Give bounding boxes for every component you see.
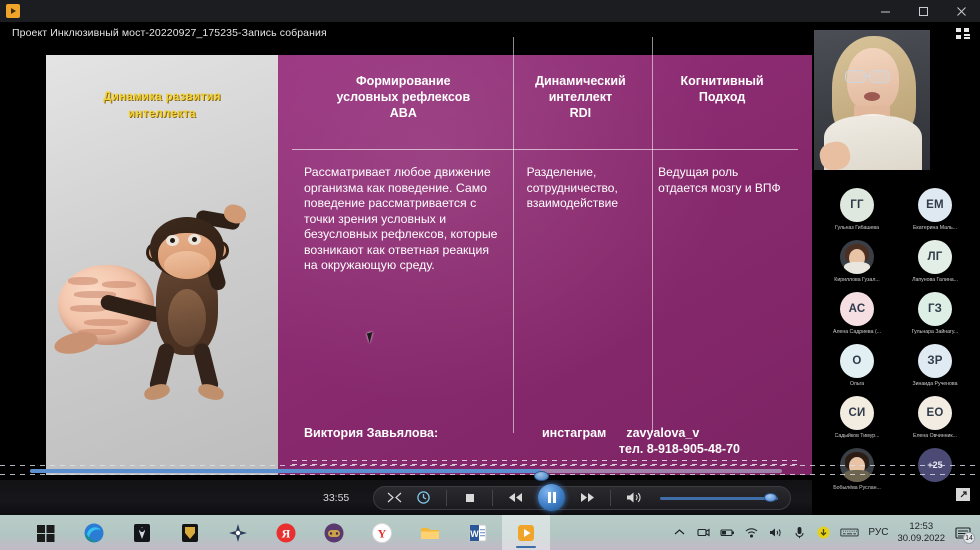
participant-name: Ольга <box>850 381 864 387</box>
rewind-icon[interactable] <box>507 489 524 506</box>
slide-column-3: Когнитивный Подход Ведущая роль отдается… <box>646 73 798 475</box>
stop-icon[interactable] <box>461 489 478 506</box>
slide-content-panel: Формирование условных рефлексов ABA Расс… <box>278 55 812 475</box>
yandex-icon[interactable]: Y <box>358 515 406 550</box>
avatar: ЛГ <box>918 240 952 274</box>
battery-icon[interactable] <box>720 525 735 540</box>
speaker-icon[interactable] <box>768 525 783 540</box>
avatar: О <box>840 344 874 378</box>
participant-tile[interactable]: ЕМ Екатерина Маль... <box>896 188 974 240</box>
participant-tile[interactable]: АС Алена Садриева (... <box>818 292 896 344</box>
presentation-slide: Динамика развития интеллекта <box>46 55 812 475</box>
svg-text:Y: Y <box>378 526 387 540</box>
slide-column-3-header: Когнитивный Подход <box>658 73 786 149</box>
participants-row: АС Алена Садриева (... ГЗ Гульнара Зайна… <box>818 292 974 344</box>
seek-progress-fill <box>30 469 541 473</box>
participant-name: Екатерина Маль... <box>913 225 957 231</box>
active-speaker-video[interactable] <box>814 30 930 170</box>
keyboard-icon[interactable] <box>840 525 859 540</box>
speaker-mouth <box>864 92 880 101</box>
system-tray: РУС 12:53 30.09.2022 14 <box>672 521 980 544</box>
slide-column-2: Динамический интеллект RDI Разделение, с… <box>515 73 647 475</box>
camera-icon[interactable] <box>696 525 711 540</box>
avatar: ГГ <box>840 188 874 222</box>
column-2-header-line3: RDI <box>527 105 635 121</box>
microphone-icon[interactable] <box>792 525 807 540</box>
clock-date: 30.09.2022 <box>897 533 945 545</box>
participant-tile[interactable]: Кириллова Гузал... <box>818 240 896 292</box>
slide-column-1-body: Рассматривает любое движение организма к… <box>304 165 503 274</box>
volume-icon[interactable] <box>625 489 642 506</box>
participant-tile[interactable]: ЛГ Лапунова Галина... <box>896 240 974 292</box>
avatar: ЗР <box>918 344 952 378</box>
wifi-icon[interactable] <box>744 525 759 540</box>
meeting-participants-panel: ГГ Гульназ Гибашева ЕМ Екатерина Маль...… <box>812 22 980 515</box>
slide-title-line1: Динамика развития <box>46 89 278 106</box>
avatar: ЕМ <box>918 188 952 222</box>
volume-handle[interactable] <box>764 493 777 502</box>
participant-tile[interactable]: ГЗ Гульнара Зайнагу... <box>896 292 974 344</box>
seek-bar[interactable] <box>0 462 812 480</box>
world-of-tanks-icon[interactable] <box>166 515 214 550</box>
games-icon[interactable] <box>310 515 358 550</box>
chevron-up-icon[interactable] <box>672 525 687 540</box>
notification-count: 14 <box>963 532 975 544</box>
participant-name: Алена Садриева (... <box>833 329 881 335</box>
slide-columns: Формирование условных рефлексов ABA Расс… <box>292 73 798 475</box>
file-explorer-icon[interactable] <box>406 515 454 550</box>
presenter-name: Виктория Завьялова: <box>292 426 524 440</box>
seek-handle[interactable] <box>534 471 549 481</box>
participant-name: Бобылёва Руслан... <box>833 485 881 491</box>
media-player-window: Проект Инклюзивный мост-20220927_175235-… <box>0 0 980 550</box>
windows-taskbar: Я Y <box>0 515 980 550</box>
svg-text:W: W <box>470 529 479 539</box>
participant-name: Гульназ Гибашева <box>835 225 879 231</box>
video-stage[interactable]: Динамика развития интеллекта <box>0 44 812 515</box>
monkey-belly <box>168 289 206 347</box>
speaker-glasses-bridge <box>866 75 870 77</box>
column-1-header-line1: Формирование <box>304 73 503 89</box>
column-3-header-line2: Подход <box>658 89 786 105</box>
monkey-eye-left <box>166 235 179 246</box>
volume-slider[interactable] <box>660 493 778 503</box>
instagram-label: инстаграм <box>542 426 606 440</box>
clock-time: 12:53 <box>897 521 945 533</box>
player-control-bar: 33:55 <box>0 480 812 515</box>
pause-icon[interactable] <box>538 484 565 511</box>
participant-tile[interactable]: О Ольга <box>818 344 896 396</box>
participant-name: Елена Овчинник... <box>913 433 957 439</box>
participant-name: Зинаида Рученова <box>912 381 957 387</box>
participants-row: СИ Садыйков Тимур... ЕО Елена Овчинник..… <box>818 396 974 448</box>
repeat-icon[interactable] <box>415 489 432 506</box>
current-time-label: 33:55 <box>323 492 359 504</box>
media-player-taskbar-icon[interactable] <box>502 515 550 550</box>
avatar: ГЗ <box>918 292 952 326</box>
avatar: СИ <box>840 396 874 430</box>
clock[interactable]: 12:53 30.09.2022 <box>897 521 945 544</box>
participants-row: Кириллова Гузал... ЛГ Лапунова Галина... <box>818 240 974 292</box>
controls-separator-1 <box>446 490 447 506</box>
participant-tile[interactable]: СИ Садыйков Тимур... <box>818 396 896 448</box>
update-icon[interactable] <box>816 525 831 540</box>
document-title: Проект Инклюзивный мост-20220927_175235-… <box>12 27 327 39</box>
speaker-glasses-right <box>869 70 890 83</box>
participants-row: О Ольга ЗР Зинаида Рученова <box>818 344 974 396</box>
minimize-button[interactable] <box>866 0 904 22</box>
slide-column-3-body: Ведущая роль отдается мозгу и ВПФ <box>658 165 786 196</box>
window-titlebar <box>0 0 980 22</box>
taskbar-items: Я Y <box>22 515 550 550</box>
slide-footer: Виктория Завьялова: инстаграм zavyalova_… <box>278 426 812 465</box>
participants-grid: ГГ Гульназ Гибашева ЕМ Екатерина Маль...… <box>812 184 980 504</box>
seek-track[interactable] <box>30 469 782 473</box>
slide-title-line2: интеллекта <box>46 106 278 123</box>
slide-left-panel: Динамика развития интеллекта <box>46 55 278 475</box>
volume-track <box>660 497 778 500</box>
participant-name: Кириллова Гузал... <box>834 277 879 283</box>
world-of-warships-icon[interactable] <box>118 515 166 550</box>
participant-name: Гульнара Зайнагу... <box>912 329 959 335</box>
slide-column-1-header: Формирование условных рефлексов ABA <box>304 73 503 149</box>
monkey-holding-brain-image <box>46 193 278 425</box>
slide-column-2-body: Разделение, сотрудничество, взаимодейств… <box>527 165 635 212</box>
monkey-left-hand <box>52 329 99 358</box>
controls-separator-2 <box>492 490 493 506</box>
fast-forward-icon[interactable] <box>579 489 596 506</box>
column-3-header-line1: Когнитивный <box>658 73 786 89</box>
shuffle-icon[interactable] <box>386 489 403 506</box>
slide-left-title: Динамика развития интеллекта <box>46 89 278 123</box>
participant-tile[interactable]: ЕО Елена Овчинник... <box>896 396 974 448</box>
column-1-header-line3: ABA <box>304 105 503 121</box>
grid-layout-icon[interactable] <box>956 28 970 40</box>
svg-text:Я: Я <box>282 526 291 540</box>
monkey-foot-right <box>197 382 226 403</box>
monkey-eye-right <box>188 234 201 245</box>
participant-tile[interactable]: ЗР Зинаида Рученова <box>896 344 974 396</box>
participants-row: ГГ Гульназ Гибашева ЕМ Екатерина Маль... <box>818 188 974 240</box>
close-button[interactable] <box>942 0 980 22</box>
avatar <box>840 240 874 274</box>
footer-dashed-line-1 <box>292 460 798 461</box>
avatar: ЕО <box>918 396 952 430</box>
avatar: АС <box>840 292 874 326</box>
media-player-icon <box>6 4 20 18</box>
expand-icon[interactable] <box>956 488 970 501</box>
yandex-browser-icon[interactable]: Я <box>262 515 310 550</box>
column-2-header-line2: интеллект <box>527 89 635 105</box>
presenter-phone: тел. 8-918-905-48-70 <box>292 442 798 456</box>
monkey-foot-left <box>143 382 172 403</box>
controls-separator-3 <box>610 490 611 506</box>
start-button[interactable] <box>22 515 70 550</box>
game-center-icon[interactable] <box>214 515 262 550</box>
instagram-handle: zavyalova_v <box>626 426 699 440</box>
participant-name: Садыйков Тимур... <box>835 433 880 439</box>
monkey-muzzle <box>164 251 210 279</box>
maximize-button[interactable] <box>904 0 942 22</box>
column-2-header-line1: Динамический <box>527 73 635 89</box>
player-buttons-group <box>373 486 791 510</box>
notification-center-icon[interactable]: 14 <box>954 524 972 541</box>
participant-name: Лапунова Галина... <box>912 277 958 283</box>
participant-tile[interactable]: ГГ Гульназ Гибашева <box>818 188 896 240</box>
slide-column-2-header: Динамический интеллект RDI <box>527 73 635 149</box>
active-app-underline <box>516 546 536 549</box>
language-indicator[interactable]: РУС <box>868 527 888 538</box>
slide-column-1: Формирование условных рефлексов ABA Расс… <box>292 73 515 475</box>
edge-icon[interactable] <box>70 515 118 550</box>
column-1-header-line2: условных рефлексов <box>304 89 503 105</box>
speaker-glasses-left <box>845 70 866 83</box>
word-icon[interactable]: W <box>454 515 502 550</box>
